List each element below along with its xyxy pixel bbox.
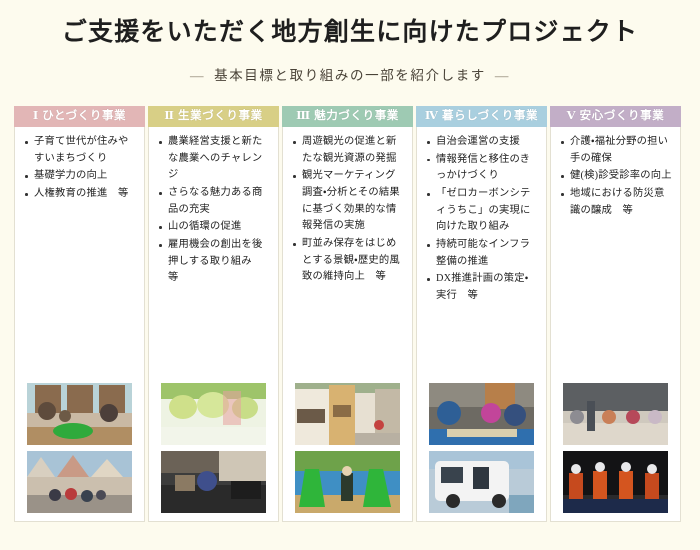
initiative-list: 介護・福祉分野の担い手の確保健(検)診受診率の向上地域における防災意識の醸成 等 — [559, 134, 672, 219]
initiative-item: 周遊観光の促進と新たな観光資源の発掘 — [291, 134, 404, 167]
project-columns: Ⅰ ひとづくり事業子育て世代が住みやすいまちづくり基礎学力の向上人権教育の推進 … — [14, 107, 686, 522]
photo-grape-vineyard — [161, 383, 266, 445]
column-header-Ⅴ: Ⅴ 安心づくり事業 — [550, 106, 681, 127]
initiative-list: 農業経営支援と新たな農業へのチャレンジさらなる魅力ある商品の充実山の循環の促進雇… — [157, 134, 270, 287]
project-column-Ⅱ: Ⅱ 生業づくり事業農業経営支援と新たな農業へのチャレンジさらなる魅力ある商品の充… — [148, 107, 279, 522]
dash-right-decoration: — — [486, 68, 519, 84]
initiative-item: 山の循環の促進 — [157, 219, 270, 236]
photo-community-volunteer-work — [429, 383, 534, 445]
initiative-item: 介護・福祉分野の担い手の確保 — [559, 134, 672, 167]
initiative-item: 子育て世代が住みやすいまちづくり — [23, 134, 136, 167]
photo-historic-streetscape — [295, 383, 400, 445]
initiative-item: 観光マーケティング調査・分析とその結果に基づく効果的な情報発信の実施 — [291, 168, 404, 235]
project-overview-page: ご支援をいただく地方創生に向けたプロジェクト —基本目標と取り組みの一部を紹介し… — [0, 0, 700, 550]
initiative-item: 情報発信と移住のきっかけづくり — [425, 152, 538, 185]
initiative-item: 自治会運営の支援 — [425, 134, 538, 151]
column-photos — [149, 383, 278, 521]
photo-fire-brigade-drill — [563, 451, 668, 513]
photo-community-bus — [429, 451, 534, 513]
initiative-item: DX推進計画の策定・実行 等 — [425, 271, 538, 304]
column-photos — [417, 383, 546, 521]
project-column-Ⅴ: Ⅴ 安心づくり事業介護・福祉分野の担い手の確保健(検)診受診率の向上地域における… — [550, 107, 681, 522]
photo-group-trip-european-town — [27, 451, 132, 513]
photo-health-exercise-class — [563, 383, 668, 445]
project-column-Ⅲ: Ⅲ 魅力づくり事業周遊観光の促進と新たな観光資源の発掘観光マーケティング調査・分… — [282, 107, 413, 522]
initiative-item: 人権教育の推進 等 — [23, 186, 136, 203]
page-title: ご支援をいただく地方創生に向けたプロジェクト — [0, 18, 700, 48]
initiative-item: さらなる魅力ある商品の充実 — [157, 185, 270, 218]
column-header-Ⅲ: Ⅲ 魅力づくり事業 — [282, 106, 413, 127]
column-header-Ⅱ: Ⅱ 生業づくり事業 — [148, 106, 279, 127]
column-header-Ⅳ: Ⅳ 暮らしづくり事業 — [416, 106, 547, 127]
initiative-list: 周遊観光の促進と新たな観光資源の発掘観光マーケティング調査・分析とその結果に基づ… — [291, 134, 404, 286]
project-column-Ⅰ: Ⅰ ひとづくり事業子育て世代が住みやすいまちづくり基礎学力の向上人権教育の推進 … — [14, 107, 145, 522]
photo-workshop-machinery — [161, 451, 266, 513]
initiative-item: 「ゼロカーボンシティうちこ」の実現に向けた取り組み — [425, 186, 538, 236]
page-header: ご支援をいただく地方創生に向けたプロジェクト —基本目標と取り組みの一部を紹介し… — [0, 0, 700, 84]
column-header-Ⅰ: Ⅰ ひとづくり事業 — [14, 106, 145, 127]
photo-traditional-festival-performance — [295, 451, 400, 513]
dash-left-decoration: — — [181, 68, 214, 84]
initiative-list: 自治会運営の支援情報発信と移住のきっかけづくり「ゼロカーボンシティうちこ」の実現… — [425, 134, 538, 305]
page-subtitle-text: 基本目標と取り組みの一部を紹介します — [214, 68, 486, 83]
initiative-item: 農業経営支援と新たな農業へのチャレンジ — [157, 134, 270, 184]
initiative-item: 基礎学力の向上 — [23, 168, 136, 185]
initiative-list: 子育て世代が住みやすいまちづくり基礎学力の向上人権教育の推進 等 — [23, 134, 136, 203]
initiative-item: 持続可能なインフラ整備の推進 — [425, 237, 538, 270]
initiative-item: 雇用機会の創出を後押しする取り組み 等 — [157, 237, 270, 287]
initiative-item: 地域における防災意識の醸成 等 — [559, 186, 672, 219]
column-photos — [283, 383, 412, 521]
photo-indoor-family-event — [27, 383, 132, 445]
column-photos — [551, 383, 680, 521]
initiative-item: 町並み保存をはじめとする景観・歴史的風致の維持向上 等 — [291, 236, 404, 286]
project-column-Ⅳ: Ⅳ 暮らしづくり事業自治会運営の支援情報発信と移住のきっかけづくり「ゼロカーボン… — [416, 107, 547, 522]
column-photos — [15, 383, 144, 521]
initiative-item: 健(検)診受診率の向上 — [559, 168, 672, 185]
page-subtitle: —基本目標と取り組みの一部を紹介します— — [0, 64, 700, 84]
